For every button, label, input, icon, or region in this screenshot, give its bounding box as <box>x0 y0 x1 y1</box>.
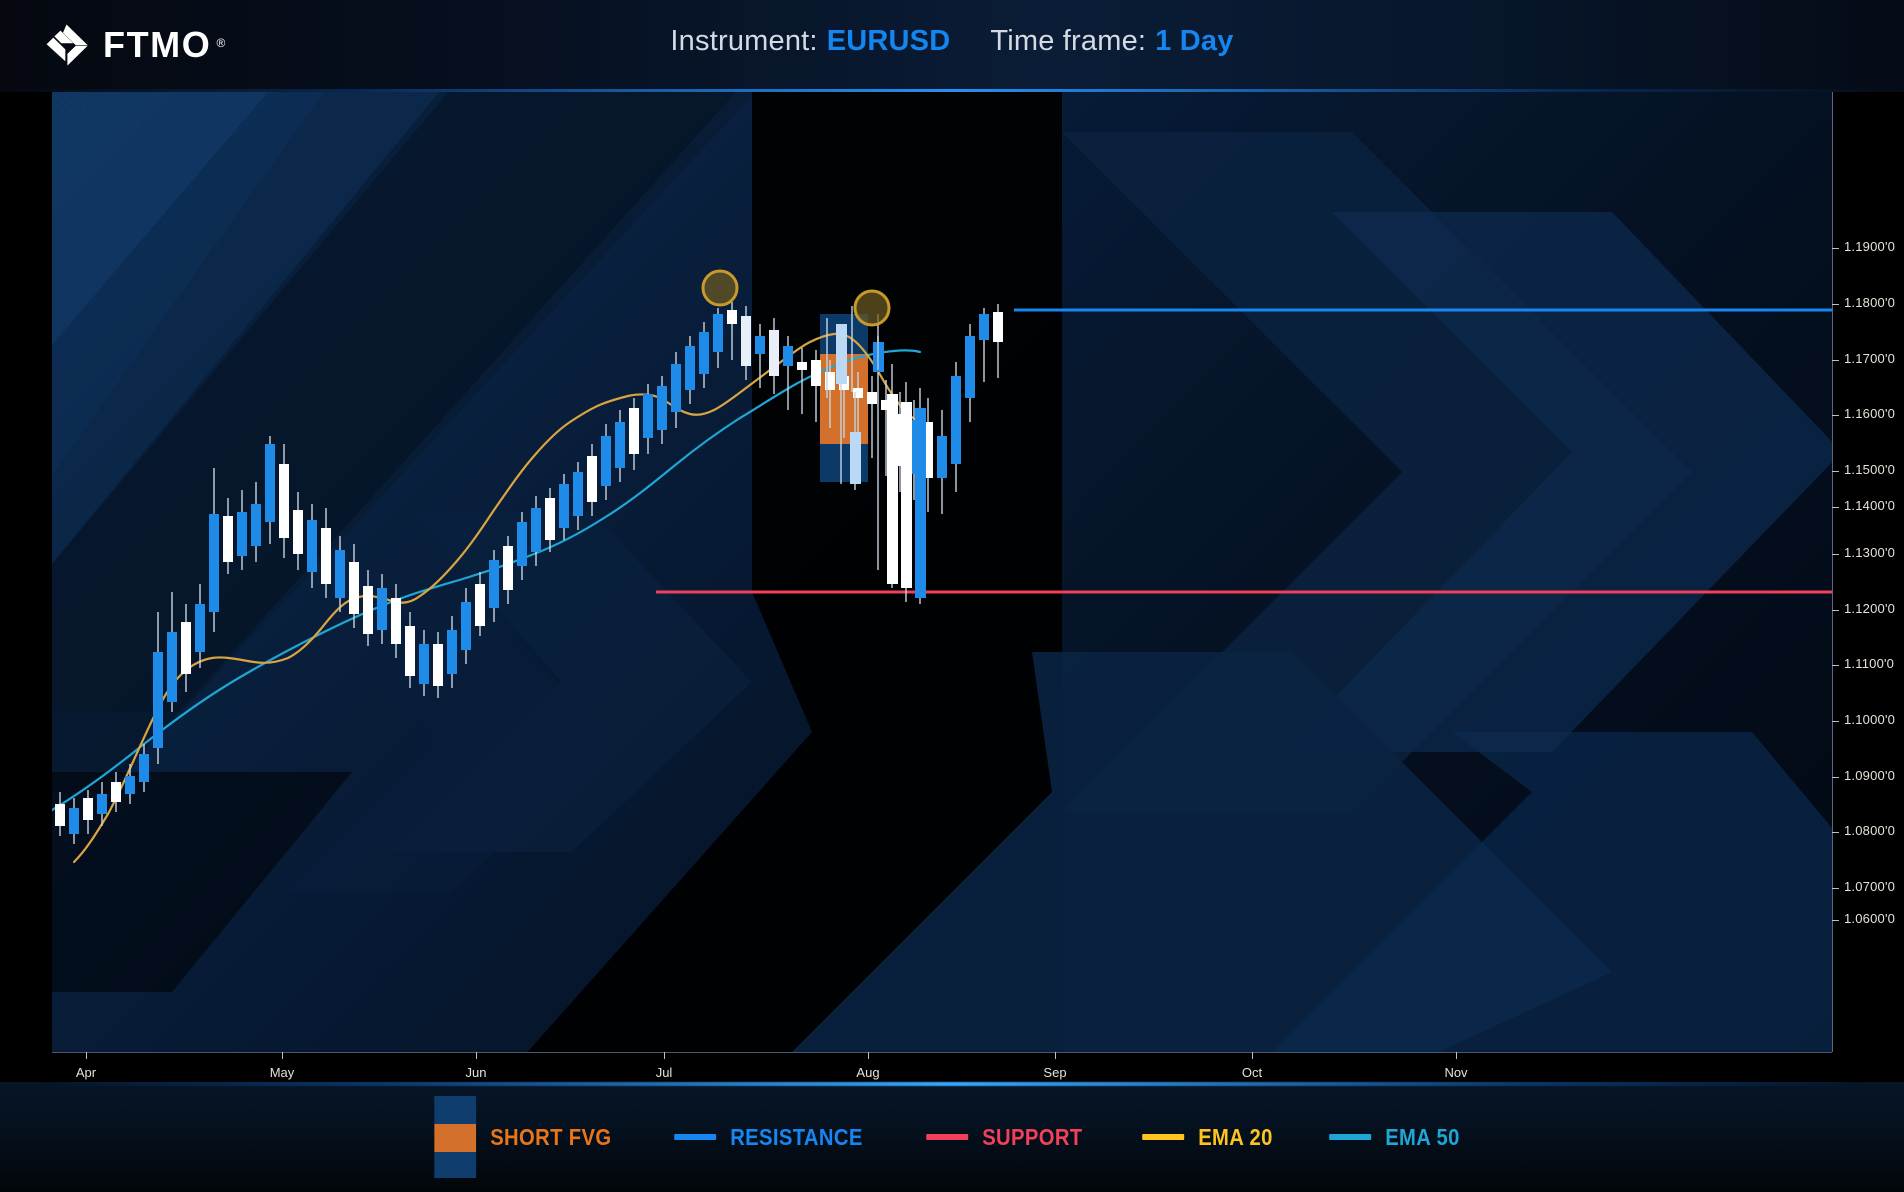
swing-high-marker-1 <box>703 271 737 305</box>
header-glow-divider <box>0 89 1904 92</box>
y-tick: 1.0600'0 <box>1832 920 1902 921</box>
x-tick-label: May <box>270 1065 295 1080</box>
support-line-icon <box>927 1134 969 1140</box>
x-tick-label: Aug <box>856 1065 879 1080</box>
y-tick-label: 1.0700'0 <box>1844 879 1895 894</box>
y-tick: 1.1200'0 <box>1832 610 1902 611</box>
instrument-label: Instrument: <box>670 25 817 58</box>
x-tick-label: Sep <box>1043 1065 1066 1080</box>
timeframe-label: Time frame: <box>990 25 1146 58</box>
y-tick: 1.1500'0 <box>1832 471 1902 472</box>
brand-name-text: FTMO <box>103 24 211 65</box>
y-tick-label: 1.0800'0 <box>1844 823 1895 838</box>
x-tick-label: Oct <box>1242 1065 1262 1080</box>
legend-label-support: SUPPORT <box>983 1124 1083 1151</box>
y-tick-label: 1.1600'0 <box>1844 406 1895 421</box>
legend-item-ema50[interactable]: EMA 50 <box>1329 1124 1470 1151</box>
legend-label-ema50: EMA 50 <box>1385 1124 1459 1151</box>
ema50-line-icon <box>1329 1134 1371 1140</box>
chart-container[interactable]: 1.1900'0 1.1800'0 1.1700'0 1.1600'0 1.15… <box>0 92 1904 1082</box>
y-tick: 1.1900'0 <box>1832 248 1902 249</box>
legend-label-resistance: RESISTANCE <box>730 1124 862 1151</box>
timeframe-value: 1 Day <box>1155 25 1233 58</box>
ftmo-diamond-logo-icon <box>44 22 90 68</box>
y-tick: 1.1400'0 <box>1832 507 1902 508</box>
brand-logo: FTMO® <box>44 22 211 68</box>
y-tick: 1.1100'0 <box>1832 665 1902 666</box>
fvg-swatch-icon <box>434 1096 476 1178</box>
registered-mark: ® <box>217 20 226 66</box>
x-tick-label: Jun <box>466 1065 487 1080</box>
date-axis[interactable]: Apr May Jun Jul Aug Sep Oct Nov <box>52 1052 1832 1082</box>
y-tick-label: 1.1000'0 <box>1844 712 1895 727</box>
y-tick-label: 1.1200'0 <box>1844 601 1895 616</box>
date-axis-line <box>52 1052 1832 1053</box>
y-tick: 1.0800'0 <box>1832 832 1902 833</box>
x-tick-label: Apr <box>76 1065 96 1080</box>
legend-item-resistance[interactable]: RESISTANCE <box>674 1124 881 1151</box>
y-tick-label: 1.1900'0 <box>1844 239 1895 254</box>
legend-label-ema20: EMA 20 <box>1199 1124 1273 1151</box>
timeframe-group: Time frame: 1 Day <box>990 25 1233 58</box>
x-tick-label: Jul <box>656 1065 673 1080</box>
legend-item-ema20[interactable]: EMA 20 <box>1143 1124 1284 1151</box>
legend-label-short-fvg: SHORT FVG <box>490 1124 611 1151</box>
y-tick: 1.1600'0 <box>1832 415 1902 416</box>
y-tick-label: 1.0600'0 <box>1844 911 1895 926</box>
instrument-value: EURUSD <box>827 25 951 58</box>
y-tick: 1.1800'0 <box>1832 304 1902 305</box>
chart-svg <box>52 92 1832 1052</box>
y-tick-label: 1.1400'0 <box>1844 498 1895 513</box>
header-meta: Instrument: EURUSD Time frame: 1 Day <box>670 25 1233 58</box>
brand-name: FTMO® <box>103 22 211 68</box>
y-tick-label: 1.1300'0 <box>1844 545 1895 560</box>
legend-items: SHORT FVG RESISTANCE SUPPORT EMA 20 EMA … <box>434 1082 1470 1192</box>
y-tick: 1.0700'0 <box>1832 888 1902 889</box>
swing-high-marker-2 <box>855 291 889 325</box>
ema50-line <box>52 350 920 810</box>
y-tick-label: 1.1800'0 <box>1844 295 1895 310</box>
legend-item-support[interactable]: SUPPORT <box>927 1124 1097 1151</box>
chart-legend: SHORT FVG RESISTANCE SUPPORT EMA 20 EMA … <box>0 1082 1904 1192</box>
price-axis-line <box>1832 92 1833 1052</box>
y-tick-label: 1.1100'0 <box>1844 656 1894 671</box>
ema20-line-icon <box>1143 1134 1185 1140</box>
app-header: FTMO® Instrument: EURUSD Time frame: 1 D… <box>0 0 1904 92</box>
x-tick-label: Nov <box>1444 1065 1467 1080</box>
y-tick: 1.1300'0 <box>1832 554 1902 555</box>
y-tick: 1.1700'0 <box>1832 360 1902 361</box>
price-axis[interactable]: 1.1900'0 1.1800'0 1.1700'0 1.1600'0 1.15… <box>1832 92 1904 1082</box>
y-tick-label: 1.1500'0 <box>1844 462 1895 477</box>
resistance-line-icon <box>674 1134 716 1140</box>
y-tick-label: 1.0900'0 <box>1844 768 1895 783</box>
instrument-group: Instrument: EURUSD <box>670 25 950 58</box>
legend-item-short-fvg[interactable]: SHORT FVG <box>434 1096 628 1178</box>
y-tick-label: 1.1700'0 <box>1844 351 1895 366</box>
chart-plot-area[interactable] <box>52 92 1832 1052</box>
y-tick: 1.1000'0 <box>1832 721 1902 722</box>
y-tick: 1.0900'0 <box>1832 777 1902 778</box>
